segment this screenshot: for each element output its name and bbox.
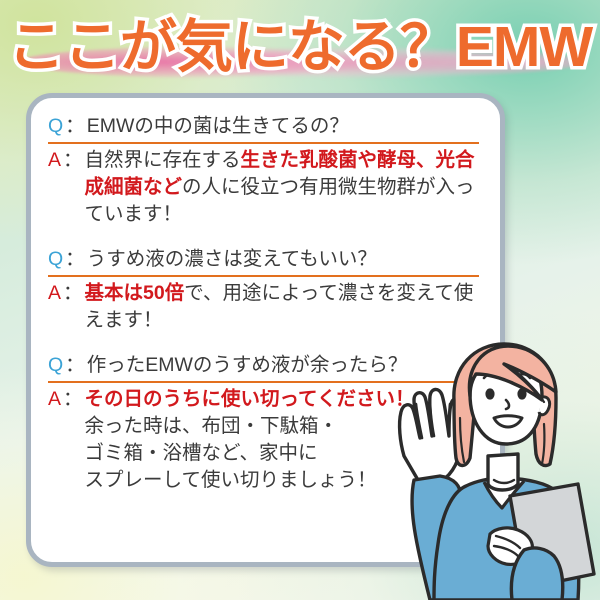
answer-colon: ： [61, 280, 85, 307]
question-row-1: Q ： EMWの中の菌は生きてるの？ [48, 113, 486, 139]
faq-item-2: Q ： うすめ液の濃さは変えてもいい？ A ： 基本は50倍で、用途によって濃さ… [48, 246, 486, 334]
infographic-canvas: ここが気になる？EMW Q ： EMWの中の菌は生きてるの？ A ： 自然界に存… [0, 0, 600, 600]
qa-divider-1 [48, 142, 479, 144]
question-colon: ： [63, 246, 87, 272]
question-row-3: Q ： 作ったEMWのうすめ液が余ったら？ [48, 352, 486, 378]
qa-divider-2 [48, 275, 479, 277]
answer-text-1: 自然界に存在する生きた乳酸菌や酵母、光合成細菌などの人に役立つ有用微生物群が入っ… [85, 147, 486, 228]
faq-list: Q ： EMWの中の菌は生きてるの？ A ： 自然界に存在する生きた乳酸菌や酵母… [48, 113, 486, 494]
page-title: ここが気になる？EMW [0, 8, 600, 86]
answer-row-3: A ： その日のうちに使い切ってください！余った時は、布団・下駄箱・ゴミ箱・浴槽… [48, 386, 486, 494]
answer-text-2: 基本は50倍で、用途によって濃さを変えて使えます！ [85, 280, 486, 334]
question-label: Q [48, 113, 63, 139]
question-row-2: Q ： うすめ液の濃さは変えてもいい？ [48, 246, 486, 272]
nose [506, 400, 509, 409]
question-colon: ： [63, 352, 87, 378]
title-banner: ここが気になる？EMW [0, 8, 600, 88]
question-text-3: 作ったEMWのうすめ液が余ったら？ [87, 352, 408, 378]
right-eye [517, 388, 526, 399]
question-label: Q [48, 352, 63, 378]
answer-label: A [48, 280, 61, 307]
faq-card: Q ： EMWの中の菌は生きてるの？ A ： 自然界に存在する生きた乳酸菌や酵母… [26, 93, 505, 567]
answer-colon: ： [61, 386, 85, 413]
question-text-2: うすめ液の濃さは変えてもいい？ [87, 246, 377, 272]
qa-divider-3 [48, 381, 479, 383]
faq-item-1: Q ： EMWの中の菌は生きてるの？ A ： 自然界に存在する生きた乳酸菌や酵母… [48, 113, 486, 228]
answer-colon: ： [61, 147, 85, 174]
question-colon: ： [63, 113, 87, 139]
question-text-1: EMWの中の菌は生きてるの？ [87, 113, 349, 139]
right-eyebrow [516, 374, 530, 378]
faq-item-3: Q ： 作ったEMWのうすめ液が余ったら？ A ： その日のうちに使い切ってくだ… [48, 352, 486, 494]
clipboard [510, 484, 594, 588]
answer-row-1: A ： 自然界に存在する生きた乳酸菌や酵母、光合成細菌などの人に役立つ有用微生物… [48, 147, 486, 228]
answer-label: A [48, 147, 61, 174]
answer-row-2: A ： 基本は50倍で、用途によって濃さを変えて使えます！ [48, 280, 486, 334]
answer-text-3: その日のうちに使い切ってください！余った時は、布団・下駄箱・ゴミ箱・浴槽など、家… [85, 386, 486, 494]
question-label: Q [48, 246, 63, 272]
answer-label: A [48, 386, 61, 413]
